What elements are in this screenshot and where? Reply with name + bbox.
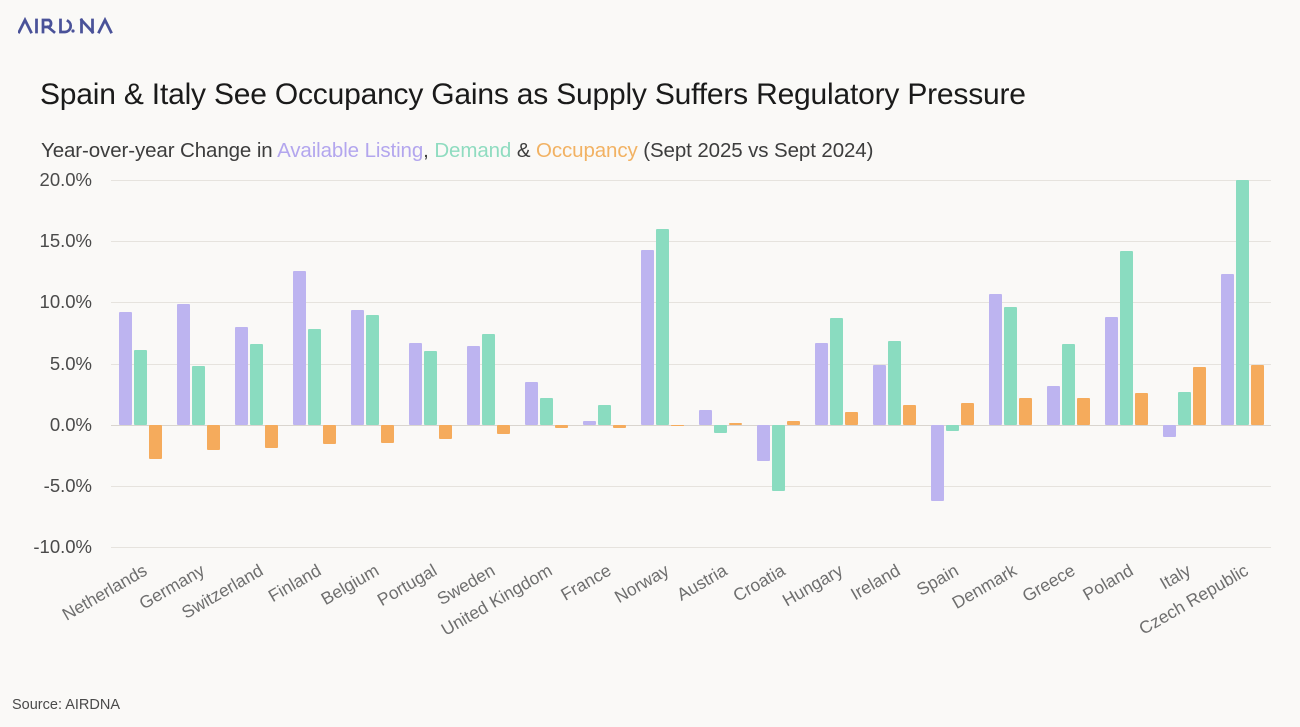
- x-tick-cell: United Kingdom: [517, 556, 575, 676]
- bar-demand[interactable]: [598, 405, 611, 425]
- bar-group[interactable]: [111, 180, 169, 547]
- bar-group[interactable]: [401, 180, 459, 547]
- bar-group[interactable]: [633, 180, 691, 547]
- x-tick-cell: Switzerland: [227, 556, 285, 676]
- gridline-neg10: [111, 547, 1271, 548]
- subtitle-amp: &: [511, 139, 536, 162]
- bar-available-listing[interactable]: [1163, 425, 1176, 437]
- bar-available-listing[interactable]: [177, 304, 190, 425]
- bar-group[interactable]: [1155, 180, 1213, 547]
- x-axis-labels: NetherlandsGermanySwitzerlandFinlandBelg…: [111, 556, 1271, 676]
- bar-demand[interactable]: [1178, 392, 1191, 425]
- bar-occupancy[interactable]: [555, 425, 568, 429]
- x-tick-cell: France: [575, 556, 633, 676]
- legend-label-occupancy: Occupancy: [536, 139, 638, 162]
- bar-demand[interactable]: [1004, 307, 1017, 424]
- bar-occupancy[interactable]: [1193, 367, 1206, 424]
- x-tick-label: Netherlands: [58, 560, 150, 625]
- bar-group[interactable]: [923, 180, 981, 547]
- x-tick-cell: Greece: [1039, 556, 1097, 676]
- bar-occupancy[interactable]: [903, 405, 916, 425]
- legend-label-listing: Available Listing: [277, 139, 423, 162]
- bar-available-listing[interactable]: [1047, 386, 1060, 425]
- bar-demand[interactable]: [482, 334, 495, 425]
- page-title: Spain & Italy See Occupancy Gains as Sup…: [40, 78, 1026, 112]
- bar-group[interactable]: [1097, 180, 1155, 547]
- bar-occupancy[interactable]: [265, 425, 278, 448]
- x-tick-cell: Denmark: [981, 556, 1039, 676]
- bar-available-listing[interactable]: [989, 294, 1002, 425]
- subtitle-lead: Year-over-year Change in: [41, 139, 277, 162]
- page-subtitle: Year-over-year Change in Available Listi…: [41, 139, 873, 163]
- bar-available-listing[interactable]: [931, 425, 944, 501]
- bar-available-listing[interactable]: [119, 312, 132, 425]
- legend-label-demand: Demand: [434, 139, 511, 162]
- x-tick-cell: Netherlands: [111, 556, 169, 676]
- bar-groups: [111, 180, 1271, 547]
- bar-available-listing[interactable]: [235, 327, 248, 425]
- bar-occupancy[interactable]: [1077, 398, 1090, 425]
- bar-group[interactable]: [981, 180, 1039, 547]
- bar-group[interactable]: [459, 180, 517, 547]
- bar-available-listing[interactable]: [583, 421, 596, 425]
- subtitle-tail: (Sept 2025 vs Sept 2024): [638, 139, 874, 162]
- bar-demand[interactable]: [134, 350, 147, 425]
- bar-group[interactable]: [749, 180, 807, 547]
- x-tick-cell: Finland: [285, 556, 343, 676]
- bar-demand[interactable]: [1062, 344, 1075, 425]
- bar-group[interactable]: [865, 180, 923, 547]
- bar-occupancy[interactable]: [671, 425, 684, 427]
- y-tick-label: 0.0%: [0, 414, 92, 436]
- bar-available-listing[interactable]: [525, 382, 538, 425]
- bar-demand[interactable]: [772, 425, 785, 491]
- y-tick-label: 20.0%: [0, 169, 92, 191]
- bar-demand[interactable]: [946, 425, 959, 431]
- bar-demand[interactable]: [888, 341, 901, 424]
- bar-occupancy[interactable]: [613, 425, 626, 429]
- bar-occupancy[interactable]: [787, 421, 800, 425]
- bar-group[interactable]: [169, 180, 227, 547]
- x-tick-cell: Spain: [923, 556, 981, 676]
- bar-group[interactable]: [517, 180, 575, 547]
- source-note: Source: AIRDNA: [12, 697, 120, 713]
- bar-demand[interactable]: [250, 344, 263, 425]
- y-tick-label: 15.0%: [0, 230, 92, 252]
- bar-demand[interactable]: [830, 318, 843, 424]
- bar-group[interactable]: [691, 180, 749, 547]
- bar-occupancy[interactable]: [845, 412, 858, 424]
- bar-occupancy[interactable]: [1251, 365, 1264, 425]
- bar-demand[interactable]: [366, 315, 379, 425]
- bar-demand[interactable]: [1236, 180, 1249, 425]
- x-tick-cell: Czech Republic: [1213, 556, 1271, 676]
- bar-group[interactable]: [343, 180, 401, 547]
- bar-occupancy[interactable]: [439, 425, 452, 440]
- x-tick-cell: Hungary: [807, 556, 865, 676]
- bar-group[interactable]: [1039, 180, 1097, 547]
- y-tick-label: -5.0%: [0, 475, 92, 497]
- bar-group[interactable]: [575, 180, 633, 547]
- bar-available-listing[interactable]: [1105, 317, 1118, 425]
- bar-occupancy[interactable]: [207, 425, 220, 451]
- bar-chart: 20.0%15.0%10.0%5.0%0.0%-5.0%-10.0%: [0, 180, 1300, 555]
- bar-occupancy[interactable]: [381, 425, 394, 443]
- y-tick-label: -10.0%: [0, 536, 92, 558]
- subtitle-comma: ,: [423, 139, 434, 162]
- bar-available-listing[interactable]: [699, 410, 712, 425]
- bar-demand[interactable]: [424, 351, 437, 424]
- bar-occupancy[interactable]: [1135, 393, 1148, 425]
- bar-demand[interactable]: [656, 229, 669, 425]
- chart-page: Spain & Italy See Occupancy Gains as Sup…: [0, 0, 1300, 727]
- y-tick-label: 5.0%: [0, 353, 92, 375]
- bar-available-listing[interactable]: [815, 343, 828, 425]
- airdna-logo-icon: [18, 15, 124, 37]
- bar-occupancy[interactable]: [729, 423, 742, 425]
- bar-demand[interactable]: [714, 425, 727, 434]
- x-tick-cell: Croatia: [749, 556, 807, 676]
- bar-demand[interactable]: [308, 329, 321, 424]
- bar-occupancy[interactable]: [497, 425, 510, 435]
- bar-demand[interactable]: [1120, 251, 1133, 425]
- plot-area: [111, 180, 1271, 547]
- bar-available-listing[interactable]: [757, 425, 770, 462]
- bar-available-listing[interactable]: [293, 271, 306, 425]
- bar-available-listing[interactable]: [1221, 274, 1234, 424]
- bar-group[interactable]: [807, 180, 865, 547]
- bar-occupancy[interactable]: [323, 425, 336, 445]
- x-tick-cell: Norway: [633, 556, 691, 676]
- bar-occupancy[interactable]: [1019, 398, 1032, 425]
- y-tick-label: 10.0%: [0, 291, 92, 313]
- bar-demand[interactable]: [192, 366, 205, 425]
- bar-occupancy[interactable]: [149, 425, 162, 459]
- airdna-logo: [18, 13, 124, 39]
- bar-available-listing[interactable]: [641, 250, 654, 425]
- bar-demand[interactable]: [540, 398, 553, 425]
- bar-available-listing[interactable]: [351, 310, 364, 425]
- x-tick-cell: Belgium: [343, 556, 401, 676]
- bar-occupancy[interactable]: [961, 403, 974, 425]
- bar-available-listing[interactable]: [409, 343, 422, 425]
- bar-group[interactable]: [1213, 180, 1271, 547]
- bar-group[interactable]: [227, 180, 285, 547]
- x-tick-cell: Ireland: [865, 556, 923, 676]
- bar-available-listing[interactable]: [873, 365, 886, 425]
- bar-group[interactable]: [285, 180, 343, 547]
- bar-available-listing[interactable]: [467, 346, 480, 424]
- x-tick-cell: Austria: [691, 556, 749, 676]
